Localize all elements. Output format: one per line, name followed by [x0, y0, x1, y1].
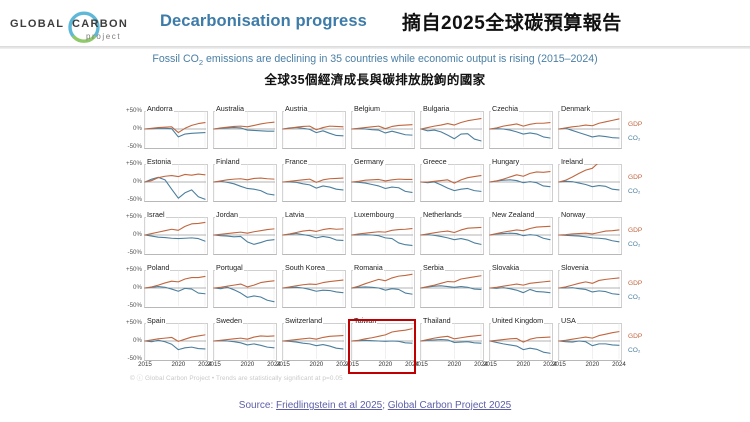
gdp-line — [352, 179, 412, 182]
panel-plot — [351, 164, 413, 200]
x-axis-tick: 2015 — [410, 361, 432, 368]
panel-sweden: Sweden — [213, 316, 275, 359]
x-axis-tick: 2015 — [272, 361, 294, 368]
panel-plot — [213, 111, 275, 147]
y-axis-tick: 0% — [116, 337, 142, 344]
co2-line — [559, 235, 619, 242]
gdp-line — [352, 274, 412, 288]
header-divider — [0, 46, 750, 49]
panel-plot — [558, 164, 620, 200]
panel-country-label: Belgium — [353, 104, 381, 113]
panel-country-label: Ireland — [560, 157, 584, 166]
legend-co2: CO₂ — [628, 241, 640, 248]
legend-co2: CO₂ — [628, 347, 640, 354]
gdp-line — [559, 119, 619, 129]
slide-title-chinese: 摘自2025全球碳預算報告 — [402, 8, 622, 35]
panel-hungary: Hungary — [489, 157, 551, 200]
co2-line — [421, 235, 481, 245]
panel-country-label: Slovenia — [560, 263, 590, 272]
panel-country-label: Israel — [146, 210, 166, 219]
subtitle-rest: emissions are declining in 35 countries … — [203, 53, 598, 65]
panel-country-label: Switzerland — [284, 316, 323, 325]
panel-plot — [420, 111, 482, 147]
panel-bulgaria: Bulgaria — [420, 104, 482, 147]
panel-country-label: Thailand — [422, 316, 452, 325]
x-axis-tick: 2020 — [512, 361, 534, 368]
co2-line — [283, 234, 343, 241]
gdp-line — [214, 336, 274, 341]
legend-gdp: GDP — [628, 174, 642, 181]
gdp-line — [145, 123, 205, 133]
slide-header: GLOBAL CARBON project Decarbonisation pr… — [0, 0, 750, 46]
gdp-line — [421, 276, 481, 288]
slide-title-english: Decarbonisation progress — [160, 12, 367, 31]
panel-finland: Finland — [213, 157, 275, 200]
panel-plot — [420, 323, 482, 359]
panel-poland: Poland — [144, 263, 206, 306]
panel-country-label: Norway — [560, 210, 586, 219]
co2-line — [214, 235, 274, 244]
panel-thailand: Thailand — [420, 316, 482, 359]
chart-subtitle-english: Fossil CO2 emissions are declining in 35… — [0, 53, 750, 67]
gdp-line — [421, 227, 481, 235]
panel-slovenia: Slovenia — [558, 263, 620, 306]
panel-serbia: Serbia — [420, 263, 482, 306]
panel-portugal: Portugal — [213, 263, 275, 306]
gdp-line — [559, 164, 619, 182]
x-axis-tick: 2020 — [236, 361, 258, 368]
panel-plot — [144, 164, 206, 200]
panel-australia: Australia — [213, 104, 275, 147]
panel-plot — [558, 270, 620, 306]
x-axis-tick: 2020 — [305, 361, 327, 368]
gdp-line — [490, 123, 550, 129]
co2-line — [490, 288, 550, 293]
gdp-line — [145, 276, 205, 288]
panel-plot — [351, 270, 413, 306]
panel-united-kingdom: United Kingdom — [489, 316, 551, 359]
panel-netherlands: Netherlands — [420, 210, 482, 253]
panel-new-zealand: New Zealand — [489, 210, 551, 253]
panel-country-label: Estonia — [146, 157, 172, 166]
panel-plot — [420, 164, 482, 200]
panel-country-label: Austria — [284, 104, 308, 113]
x-axis-tick: 2015 — [203, 361, 225, 368]
panel-plot — [144, 270, 206, 306]
panel-country-label: New Zealand — [491, 210, 535, 219]
panel-country-label: Sweden — [215, 316, 243, 325]
panel-plot — [489, 164, 551, 200]
legend-gdp: GDP — [628, 227, 642, 234]
panel-country-label: Andorra — [146, 104, 174, 113]
y-axis-tick: 0% — [116, 284, 142, 291]
panel-plot — [282, 164, 344, 200]
panel-romania: Romania — [351, 263, 413, 306]
panel-country-label: France — [284, 157, 308, 166]
gdp-line — [559, 278, 619, 288]
small-multiples-chart: AndorraAustraliaAustriaBelgiumBulgariaCz… — [117, 96, 639, 381]
panel-czechia: Czechia — [489, 104, 551, 147]
gdp-line — [352, 125, 412, 129]
panel-plot — [213, 217, 275, 253]
panel-norway: Norway — [558, 210, 620, 253]
co2-line — [490, 341, 550, 353]
panel-plot — [351, 111, 413, 147]
logo-word-project: project — [86, 32, 121, 41]
panel-plot — [489, 323, 551, 359]
x-axis-tick: 2020 — [374, 361, 396, 368]
panel-plot — [144, 111, 206, 147]
panel-andorra: Andorra — [144, 104, 206, 147]
panel-country-label: Denmark — [560, 104, 591, 113]
panel-denmark: Denmark — [558, 104, 620, 147]
panel-plot — [351, 323, 413, 359]
y-axis-tick: -50% — [116, 143, 142, 150]
panel-slovakia: Slovakia — [489, 263, 551, 306]
gdp-line — [145, 222, 205, 235]
panel-country-label: Finland — [215, 157, 241, 166]
panel-country-label: Jordan — [215, 210, 239, 219]
co2-line — [559, 181, 619, 190]
panel-country-label: Portugal — [215, 263, 244, 272]
legend-co2: CO₂ — [628, 135, 640, 142]
slide-root: GLOBAL CARBON project Decarbonisation pr… — [0, 0, 750, 422]
panel-plot — [213, 164, 275, 200]
co2-line — [559, 128, 619, 138]
co2-line — [145, 340, 205, 349]
co2-line — [283, 182, 343, 190]
panel-ireland: Ireland — [558, 157, 620, 200]
logo-word-global: GLOBAL — [10, 18, 64, 30]
co2-line — [145, 177, 205, 199]
co2-line — [559, 288, 619, 295]
source-link-friedlingstein[interactable]: Friedlingstein et al 2025 — [276, 400, 382, 411]
panel-plot — [420, 217, 482, 253]
gdp-line — [490, 172, 550, 182]
x-axis-tick: 2015 — [341, 361, 363, 368]
co2-line — [352, 182, 412, 192]
panel-spain: Spain — [144, 316, 206, 359]
legend-gdp: GDP — [628, 280, 642, 287]
x-axis-tick: 2020 — [443, 361, 465, 368]
gdp-line — [214, 229, 274, 235]
co2-line — [214, 341, 274, 348]
gdp-line — [559, 230, 619, 235]
gdp-line — [559, 332, 619, 341]
panel-country-label: United Kingdom — [491, 316, 544, 325]
legend-co2: CO₂ — [628, 294, 640, 301]
x-axis-tick: 2015 — [548, 361, 570, 368]
panel-belgium: Belgium — [351, 104, 413, 147]
panel-plot — [213, 323, 275, 359]
legend-co2: CO₂ — [628, 188, 640, 195]
x-axis-tick: 2015 — [479, 361, 501, 368]
x-axis-tick: 2024 — [608, 361, 630, 368]
gdp-line — [214, 281, 274, 288]
panel-country-label: Spain — [146, 316, 166, 325]
legend-gdp: GDP — [628, 333, 642, 340]
co2-line — [214, 181, 274, 195]
y-axis-tick: 0% — [116, 125, 142, 132]
panel-plot — [282, 323, 344, 359]
panel-france: France — [282, 157, 344, 200]
y-axis-tick: +50% — [116, 319, 142, 326]
panel-plot — [558, 323, 620, 359]
panel-south-korea: South Korea — [282, 263, 344, 306]
panel-plot — [351, 217, 413, 253]
panel-estonia: Estonia — [144, 157, 206, 200]
panel-luxembourg: Luxembourg — [351, 210, 413, 253]
x-axis-tick: 2015 — [134, 361, 156, 368]
panel-country-label: USA — [560, 316, 577, 325]
subtitle-prefix: Fossil CO — [152, 53, 199, 65]
panel-austria: Austria — [282, 104, 344, 147]
panel-plot — [282, 217, 344, 253]
y-axis-tick: +50% — [116, 213, 142, 220]
panel-country-label: Luxembourg — [353, 210, 395, 219]
panel-country-label: Taiwan — [353, 316, 377, 325]
gdp-line — [421, 119, 481, 129]
y-axis-tick: -50% — [116, 196, 142, 203]
panel-country-label: Poland — [146, 263, 170, 272]
y-axis-tick: -50% — [116, 302, 142, 309]
co2-line — [283, 341, 343, 349]
panel-plot — [420, 270, 482, 306]
panel-country-label: Slovakia — [491, 263, 520, 272]
chart-subtitle-chinese: 全球35個經濟成長與碳排放脫鉤的國家 — [0, 69, 750, 88]
panel-germany: Germany — [351, 157, 413, 200]
co2-line — [490, 129, 550, 138]
panel-country-label: Bulgaria — [422, 104, 450, 113]
panel-plot — [282, 111, 344, 147]
co2-line — [421, 340, 481, 344]
chart-footnote: © ⓘ Global Carbon Project • Trends are s… — [130, 373, 343, 382]
gdp-line — [490, 281, 550, 288]
gdp-line — [283, 336, 343, 341]
panel-latvia: Latvia — [282, 210, 344, 253]
gdp-line — [352, 329, 412, 341]
panel-jordan: Jordan — [213, 210, 275, 253]
panel-plot — [558, 111, 620, 147]
source-link-gcp[interactable]: Global Carbon Project 2025 — [388, 400, 511, 411]
panel-plot — [213, 270, 275, 306]
y-axis-tick: 0% — [116, 231, 142, 238]
co2-line — [490, 180, 550, 187]
panel-plot — [144, 323, 206, 359]
co2-line — [352, 129, 412, 135]
panel-country-label: Serbia — [422, 263, 445, 272]
source-prefix: Source: — [239, 400, 276, 411]
co2-line — [352, 235, 412, 246]
panel-switzerland: Switzerland — [282, 316, 344, 359]
y-axis-tick: 0% — [116, 178, 142, 185]
panel-country-label: Hungary — [491, 157, 520, 166]
panel-israel: Israel — [144, 210, 206, 253]
logo-word-carbon: CARBON — [72, 18, 128, 30]
global-carbon-project-logo: GLOBAL CARBON project — [8, 6, 148, 44]
panel-usa: USA — [558, 316, 620, 359]
source-line: Source: Friedlingstein et al 2025; Globa… — [0, 400, 750, 411]
y-axis-tick: -50% — [116, 249, 142, 256]
panel-country-label: Latvia — [284, 210, 305, 219]
panel-country-label: Greece — [422, 157, 448, 166]
y-axis-tick: +50% — [116, 107, 142, 114]
gdp-line — [352, 229, 412, 235]
panel-country-label: Germany — [353, 157, 385, 166]
x-axis-tick: 2020 — [581, 361, 603, 368]
panel-plot — [558, 217, 620, 253]
panel-country-label: Romania — [353, 263, 384, 272]
legend-gdp: GDP — [628, 121, 642, 128]
gdp-line — [283, 280, 343, 288]
panel-country-label: Czechia — [491, 104, 519, 113]
co2-line — [421, 129, 481, 141]
gdp-line — [145, 335, 205, 341]
panel-plot — [489, 217, 551, 253]
x-axis-tick: 2020 — [167, 361, 189, 368]
panel-country-label: Netherlands — [422, 210, 463, 219]
co2-line — [421, 182, 481, 191]
panel-country-label: Australia — [215, 104, 245, 113]
panel-taiwan: Taiwan — [351, 316, 413, 359]
co2-line — [490, 233, 550, 239]
panel-plot — [282, 270, 344, 306]
co2-line — [145, 287, 205, 294]
co2-line — [214, 287, 274, 301]
panel-plot — [489, 111, 551, 147]
panel-plot — [489, 270, 551, 306]
y-axis-tick: +50% — [116, 160, 142, 167]
y-axis-tick: +50% — [116, 266, 142, 273]
panel-greece: Greece — [420, 157, 482, 200]
co2-line — [145, 235, 205, 241]
gdp-line — [214, 122, 274, 129]
panel-country-label: South Korea — [284, 263, 326, 272]
co2-line — [559, 341, 619, 346]
panel-plot — [144, 217, 206, 253]
